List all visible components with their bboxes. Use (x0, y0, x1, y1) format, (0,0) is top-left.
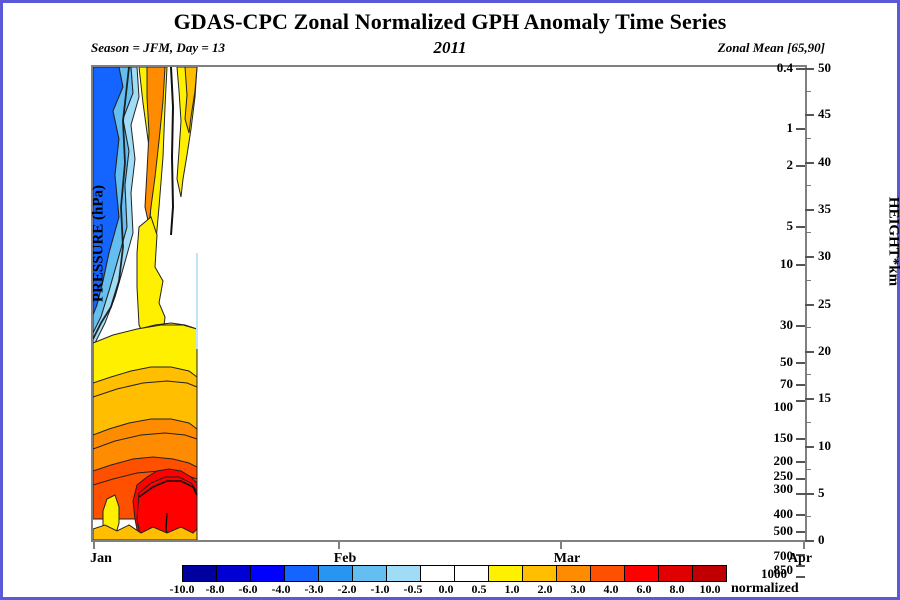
colorbar-band (693, 566, 726, 581)
ylabel-50: 50 (780, 354, 793, 370)
ylabel-300: 300 (774, 481, 794, 497)
ylabel-2: 2 (787, 157, 794, 173)
colorbar-tick: 6.0 (637, 582, 652, 597)
colorbar-band (217, 566, 251, 581)
colorbar-band (523, 566, 557, 581)
ylabel-400: 400 (774, 506, 794, 522)
colorbar-band (251, 566, 285, 581)
colorbar-tick: 0.5 (472, 582, 487, 597)
colorbar-tick: 0.0 (439, 582, 454, 597)
ylabel-0p4: 0.4 (777, 60, 793, 76)
colorbar-tick: -8.0 (206, 582, 225, 597)
ylabel-1: 1 (787, 120, 794, 136)
ylabel-100: 100 (774, 399, 794, 415)
y2label-50: 50 (818, 60, 831, 76)
colorbar-tick: -6.0 (239, 582, 258, 597)
colorbar-band (659, 566, 693, 581)
ylabel-70: 70 (780, 376, 793, 392)
y2label-15: 15 (818, 390, 831, 406)
page-title: GDAS-CPC Zonal Normalized GPH Anomaly Ti… (3, 9, 897, 35)
ylabel-5: 5 (787, 218, 794, 234)
y2label-20: 20 (818, 343, 831, 359)
plot-area: 0.4 1 2 5 10 30 50 70 100 150 200 250 30… (91, 65, 807, 542)
colorbar-band (591, 566, 625, 581)
y2label-25: 25 (818, 296, 831, 312)
colorbar-band (183, 566, 217, 581)
colorbar-tick: 3.0 (571, 582, 586, 597)
y-axis-title-left: PRESSURE (hPa) (91, 134, 108, 354)
y2label-0: 0 (818, 532, 825, 548)
colorbar-band (387, 566, 421, 581)
zonal-mean-label: Zonal Mean [65,90] (718, 40, 825, 56)
y2label-35: 35 (818, 201, 831, 217)
ylabel-500: 500 (774, 523, 794, 539)
colorbar-band (285, 566, 319, 581)
ylabel-10: 10 (780, 256, 793, 272)
colorbar-tick: 10.0 (700, 582, 721, 597)
colorbar-band (489, 566, 523, 581)
colorbar-tick: -2.0 (338, 582, 357, 597)
colorbar-tick: -4.0 (272, 582, 291, 597)
colorbar-tick: -3.0 (305, 582, 324, 597)
colorbar-band (353, 566, 387, 581)
colorbar-tick: -10.0 (170, 582, 195, 597)
colorbar-tick: 8.0 (670, 582, 685, 597)
colorbar-band (421, 566, 455, 581)
colorbar-tick: -1.0 (371, 582, 390, 597)
y-axis-title-right: HEIGHT*km (885, 132, 900, 352)
contour-canvas (93, 67, 805, 540)
y2label-30: 30 (818, 248, 831, 264)
colorbar-band (557, 566, 591, 581)
ylabel-30: 30 (780, 317, 793, 333)
colorbar-band (455, 566, 489, 581)
y2label-10: 10 (818, 438, 831, 454)
colorbar-band (319, 566, 353, 581)
y2label-5: 5 (818, 485, 825, 501)
colorbar-band (625, 566, 659, 581)
y2label-45: 45 (818, 106, 831, 122)
colorbar-tick: 4.0 (604, 582, 619, 597)
xlabel-jan: Jan (90, 551, 112, 567)
ylabel-1000: 1000 (761, 566, 787, 582)
colorbar: -10.0 -8.0 -6.0 -4.0 -3.0 -2.0 -1.0 -0.5… (182, 565, 727, 582)
colorbar-tick: 1.0 (505, 582, 520, 597)
ylabel-200: 200 (774, 453, 794, 469)
colorbar-tick: -0.5 (404, 582, 423, 597)
colorbar-unit-label: normalized (731, 581, 799, 597)
ylabel-150: 150 (774, 430, 794, 446)
chart-page: GDAS-CPC Zonal Normalized GPH Anomaly Ti… (0, 0, 900, 600)
y2label-40: 40 (818, 154, 831, 170)
colorbar-bands (182, 565, 727, 582)
xlabel-apr: Apr (788, 551, 812, 567)
contour-field (93, 67, 805, 540)
colorbar-tick: 2.0 (538, 582, 553, 597)
